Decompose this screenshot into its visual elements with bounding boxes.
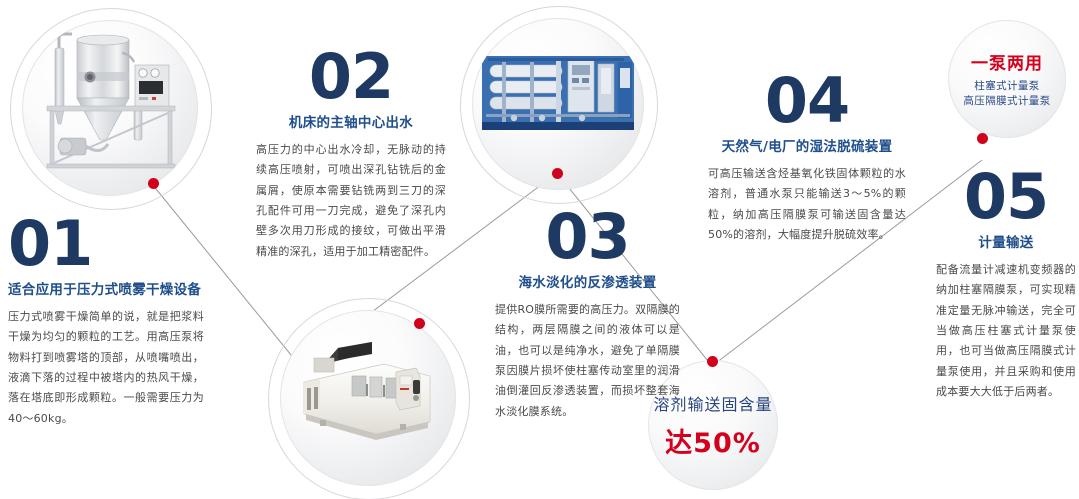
step-05-number: 05 [936,168,1076,227]
badge-dual-purpose-pump: 一泵两用 柱塞式计量泵 高压隔膜式计量泵 [948,20,1066,138]
badge-title: 一泵两用 [971,49,1043,74]
connector-dot-3 [552,168,563,179]
step-03: 03 海水淡化的反渗透装置 提供RO膜所需要的高压力。双隔膜的结构，两层隔膜之间… [495,208,680,422]
badge-line-2: 高压隔膜式计量泵 [963,94,1050,109]
step-01-title: 适合应用于压力式喷雾干燥设备 [8,278,204,298]
infographic-canvas: 一泵两用 柱塞式计量泵 高压隔膜式计量泵 溶剂输送固含量 达50% 01 适合应… [0,0,1079,499]
step-01-body: 压力式喷雾干燥简单的说，就是把浆料干燥为均匀的颗粒的工艺。用高压泵将物料打到喷雾… [8,307,204,429]
step-03-body: 提供RO膜所需要的高压力。双隔膜的结构，两层隔膜之间的液体可以是油，也可以是纯净… [495,300,680,422]
badge-line-1: 柱塞式计量泵 [974,79,1039,94]
step-02-number: 02 [256,48,446,107]
step-05-title: 计量输送 [936,231,1076,251]
step-05: 05 计量输送 配备流量计减速机变频器的纳加柱塞隔膜泵，可实现精准定量无脉冲输送… [936,168,1076,402]
step-02-body: 高压力的中心出水冷却，无脉动的持续高压喷射，可喷出深孔钻铣后的金属屑，使原本需要… [256,140,446,262]
connector-dot-5 [977,133,988,144]
step-04-number: 04 [708,72,906,131]
step-04-body: 可高压输送含烃基氧化铁固体颗粒的水溶剂，普通水泵只能输送3～5%的颗粒，纳加高压… [708,164,906,245]
cnc-machine-photo [280,310,456,486]
badge-solid-value: 达50% [665,421,761,460]
step-04-title: 天然气/电厂的湿法脱硫装置 [708,135,906,155]
spray-dryer-photo [22,20,198,196]
step-03-title: 海水淡化的反渗透装置 [495,271,680,291]
step-01-number: 01 [8,215,204,274]
step-05-body: 配备流量计减速机变频器的纳加柱塞隔膜泵，可实现精准定量无脉冲输送，完全可当做高压… [936,260,1076,402]
step-03-number: 03 [495,208,680,267]
step-01: 01 适合应用于压力式喷雾干燥设备 压力式喷雾干燥简单的说，就是把浆料干燥为均匀… [8,215,204,429]
step-04: 04 天然气/电厂的湿法脱硫装置 可高压输送含烃基氧化铁固体颗粒的水溶剂，普通水… [708,72,906,245]
step-02-title: 机床的主轴中心出水 [256,111,446,131]
connector-dot-4 [707,356,718,367]
step-02: 02 机床的主轴中心出水 高压力的中心出水冷却，无脉动的持续高压喷射，可喷出深孔… [256,48,446,262]
connector-dot-2 [414,318,425,329]
reverse-osmosis-illustration [472,18,644,190]
spray-dryer-illustration [22,20,198,196]
connector-dot-1 [148,178,159,189]
cnc-machine-illustration [280,310,456,486]
reverse-osmosis-photo [472,18,644,190]
